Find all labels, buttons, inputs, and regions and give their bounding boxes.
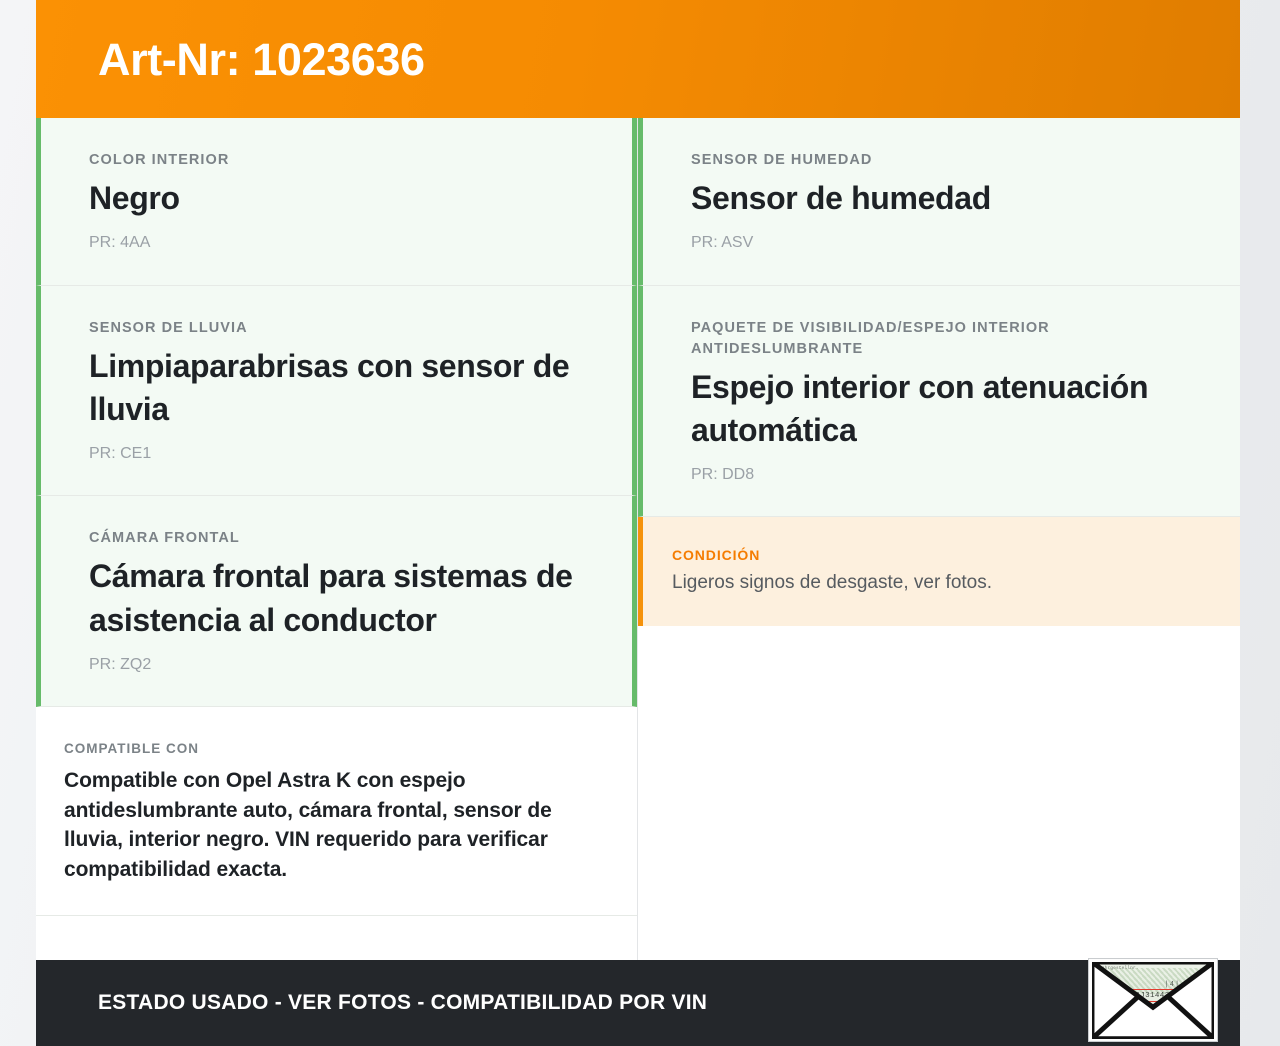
listing-card: Art-Nr: 1023636 COLOR INTERIOR Negro PR:… xyxy=(36,0,1240,1046)
spec-label: SENSOR DE LLUVIA xyxy=(89,318,586,339)
spec-pr-code: PR: 4AA xyxy=(89,232,586,254)
spec-value: Limpiaparabrisas con sensor de lluvia xyxy=(89,345,586,431)
spec-pr-code: PR: ASV xyxy=(691,232,1194,254)
spec-pr-code: PR: CE1 xyxy=(89,443,586,465)
spec-pr-code: PR: DD8 xyxy=(691,464,1194,486)
spec-column-right: SENSOR DE HUMEDAD Sensor de humedad PR: … xyxy=(638,118,1240,960)
spec-label: COMPATIBLE CON xyxy=(64,739,607,759)
spec-grid: COLOR INTERIOR Negro PR: 4AA SENSOR DE L… xyxy=(36,118,1240,960)
envelope-icon xyxy=(1092,962,1214,1039)
spec-value: Compatible con Opel Astra K con espejo a… xyxy=(64,766,607,885)
condition-value: Ligeros signos de desgaste, ver fotos. xyxy=(672,570,1200,597)
spec-cell-camara-frontal: CÁMARA FRONTAL Cámara frontal para siste… xyxy=(36,496,637,707)
condition-label: CONDICIÓN xyxy=(672,545,1200,565)
article-number: Art-Nr: 1023636 xyxy=(98,37,425,82)
spec-column-left: COLOR INTERIOR Negro PR: 4AA SENSOR DE L… xyxy=(36,118,638,960)
spec-value: Negro xyxy=(89,177,586,220)
spec-cell-color-interior: COLOR INTERIOR Negro PR: 4AA xyxy=(36,118,637,286)
spec-label: CÁMARA FRONTAL xyxy=(89,528,586,549)
spec-cell-sensor-de-humedad: SENSOR DE HUMEDAD Sensor de humedad PR: … xyxy=(638,118,1240,286)
spec-value: Sensor de humedad xyxy=(691,177,1194,220)
spec-label: SENSOR DE HUMEDAD xyxy=(691,150,1194,171)
spec-pr-code: PR: ZQ2 xyxy=(89,654,586,676)
spec-cell-compatible-con: COMPATIBLE CON Compatible con Opel Astra… xyxy=(36,707,637,916)
card-footer: ESTADO USADO - VER FOTOS - COMPATIBILIDA… xyxy=(36,960,1240,1046)
spec-value: Cámara frontal para sistemas de asistenc… xyxy=(89,555,586,641)
footer-note: ESTADO USADO - VER FOTOS - COMPATIBILIDA… xyxy=(98,991,707,1015)
spec-column-left-spacer xyxy=(36,916,637,960)
vehicle-document-thumbnail: Fahrgestellnr. |4| A/B W1K71463J31443 7 … xyxy=(1088,958,1218,1042)
spec-column-right-spacer xyxy=(638,626,1240,960)
spec-label: PAQUETE DE VISIBILIDAD/ESPEJO INTERIOR A… xyxy=(691,318,1194,360)
spec-value: Espejo interior con atenuación automátic… xyxy=(691,366,1194,452)
card-header: Art-Nr: 1023636 xyxy=(36,0,1240,118)
spec-cell-sensor-de-lluvia: SENSOR DE LLUVIA Limpiaparabrisas con se… xyxy=(36,286,637,497)
spec-cell-paquete-visibilidad: PAQUETE DE VISIBILIDAD/ESPEJO INTERIOR A… xyxy=(638,286,1240,518)
spec-label: COLOR INTERIOR xyxy=(89,150,586,171)
spec-cell-condicion: CONDICIÓN Ligeros signos de desgaste, ve… xyxy=(638,517,1240,626)
